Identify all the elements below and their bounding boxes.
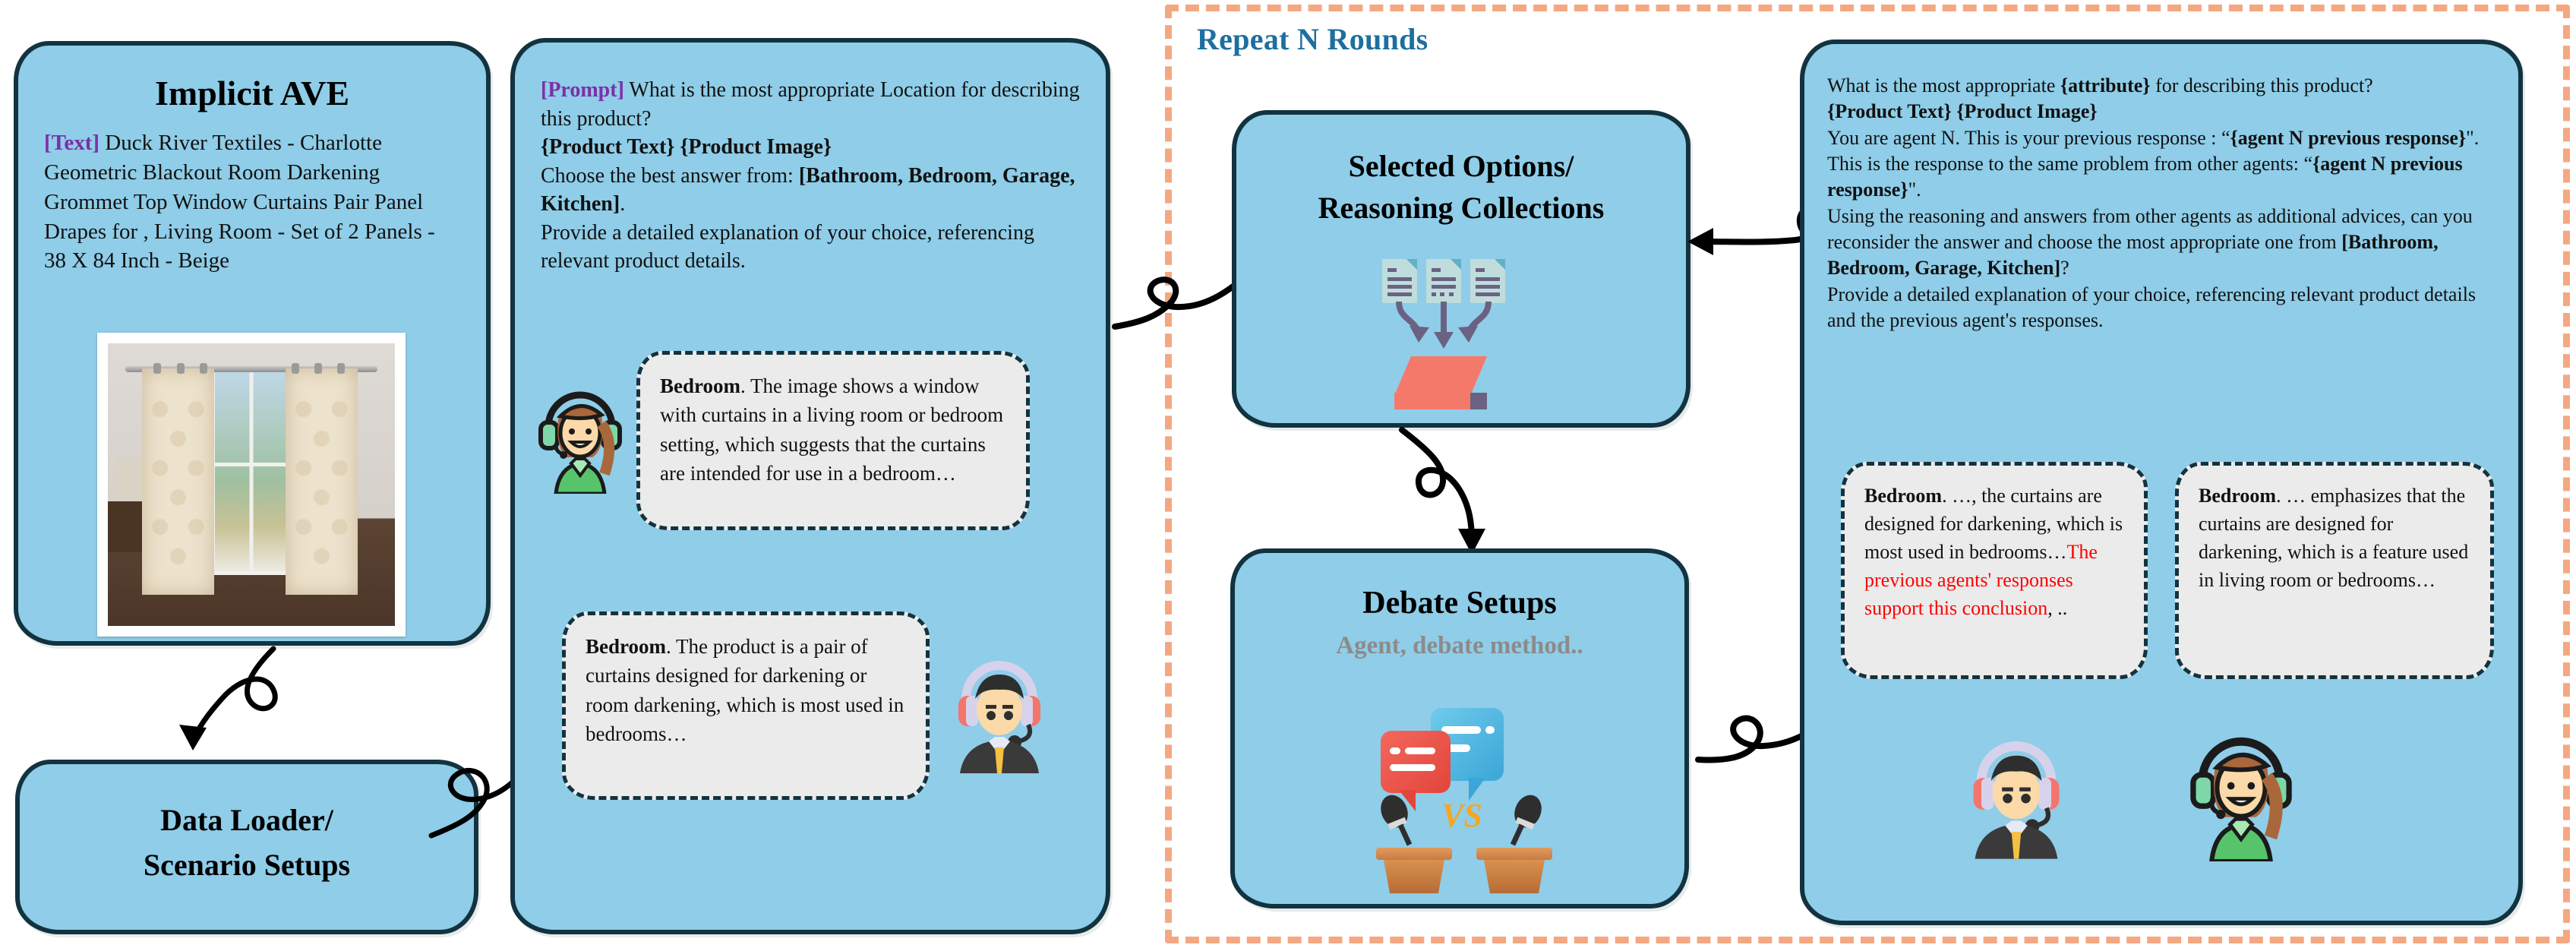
- debate-setups-title: Debate Setups: [1235, 585, 1684, 621]
- bubble-agent-male-round2: Bedroom. …, the curtains are designed fo…: [1841, 462, 2148, 679]
- product-image: [97, 333, 406, 637]
- panel-data-loader: Data Loader/ Scenario Setups: [15, 760, 478, 934]
- implicit-ave-product-text: [Text] Duck River Textiles - Charlotte G…: [18, 113, 486, 276]
- agent-male-avatar-round2: [1964, 731, 2069, 860]
- dp-l1-bold: {attribute}: [2060, 74, 2151, 96]
- debate-prompt-text: What is the most appropriate {attribute}…: [1804, 44, 2518, 333]
- dp-l3-post: ".: [2466, 127, 2479, 149]
- bubble-answer: Bedroom: [660, 374, 740, 397]
- agent-female-avatar-round1: [536, 380, 624, 494]
- agent-female-avatar-round2: [2184, 723, 2298, 861]
- documents-to-cube-icon: [1382, 259, 1549, 411]
- bubble-answer: Bedroom: [1864, 485, 1942, 507]
- bubble-agent-female-round2: Bedroom. … emphasizes that the curtains …: [2175, 462, 2494, 679]
- prompt-line4: Provide a detailed explanation of your c…: [541, 221, 1034, 273]
- dp-l3-bold: {agent N previous response}: [2230, 127, 2467, 149]
- chat-bubble-red: [1381, 731, 1451, 793]
- selected-options-line2: Reasoning Collections: [1236, 190, 1686, 226]
- debate-podium-vs-icon: VS: [1362, 705, 1567, 895]
- dp-l1-pre: What is the most appropriate: [1827, 74, 2060, 96]
- dp-l1-post: for describing this product?: [2151, 74, 2373, 96]
- dp-l5-post: ?: [2060, 257, 2069, 279]
- podium-right: [1476, 848, 1552, 860]
- podium-left: [1376, 848, 1452, 860]
- prompt-tag: [Prompt]: [541, 78, 624, 102]
- dp-l4-post: ".: [1908, 179, 1921, 201]
- selected-options-line1: Selected Options/: [1236, 148, 1686, 184]
- bubble-agent-female-round1: Bedroom. The image shows a window with c…: [636, 351, 1030, 530]
- prompt-text: [Prompt] What is the most appropriate Lo…: [515, 43, 1106, 276]
- debate-setups-subtitle: Agent, debate method..: [1235, 632, 1684, 660]
- panel-selected-options: Selected Options/ Reasoning Collections: [1232, 110, 1690, 428]
- bubble-tail: , ..: [2047, 597, 2067, 619]
- data-loader-line1: Data Loader/: [20, 802, 474, 838]
- bubble-answer: Bedroom: [2199, 485, 2276, 507]
- bubble-answer: Bedroom: [586, 635, 666, 658]
- implicit-ave-title: Implicit AVE: [18, 73, 486, 113]
- podium-left-body: [1384, 860, 1444, 893]
- dp-l2: {Product Text} {Product Image}: [1827, 100, 2098, 122]
- repeat-n-rounds-label: Repeat N Rounds: [1197, 21, 1428, 57]
- prompt-line3-post: .: [620, 192, 625, 216]
- panel-implicit-ave: Implicit AVE [Text] Duck River Textiles …: [14, 41, 491, 646]
- prompt-line2: {Product Text} {Product Image}: [541, 135, 832, 159]
- dp-l4-pre: This is the response to the same problem…: [1827, 153, 2312, 175]
- dp-l3-pre: You are agent N. This is your previous r…: [1827, 127, 2230, 149]
- panel-debate-setups: Debate Setups Agent, debate method.. VS: [1230, 548, 1689, 908]
- bubble-agent-male-round1: Bedroom. The product is a pair of curtai…: [562, 611, 930, 800]
- podium-right-body: [1484, 860, 1545, 893]
- arrow-ave-to-loader: [159, 643, 357, 764]
- text-tag: [Text]: [44, 131, 99, 155]
- dp-l6: Provide a detailed explanation of your c…: [1827, 283, 2476, 331]
- data-loader-line2: Scenario Setups: [20, 847, 474, 883]
- product-text-value: Duck River Textiles - Charlotte Geometri…: [44, 131, 435, 273]
- agent-male-avatar-round1: [949, 652, 1050, 773]
- prompt-line3-pre: Choose the best answer from:: [541, 164, 799, 188]
